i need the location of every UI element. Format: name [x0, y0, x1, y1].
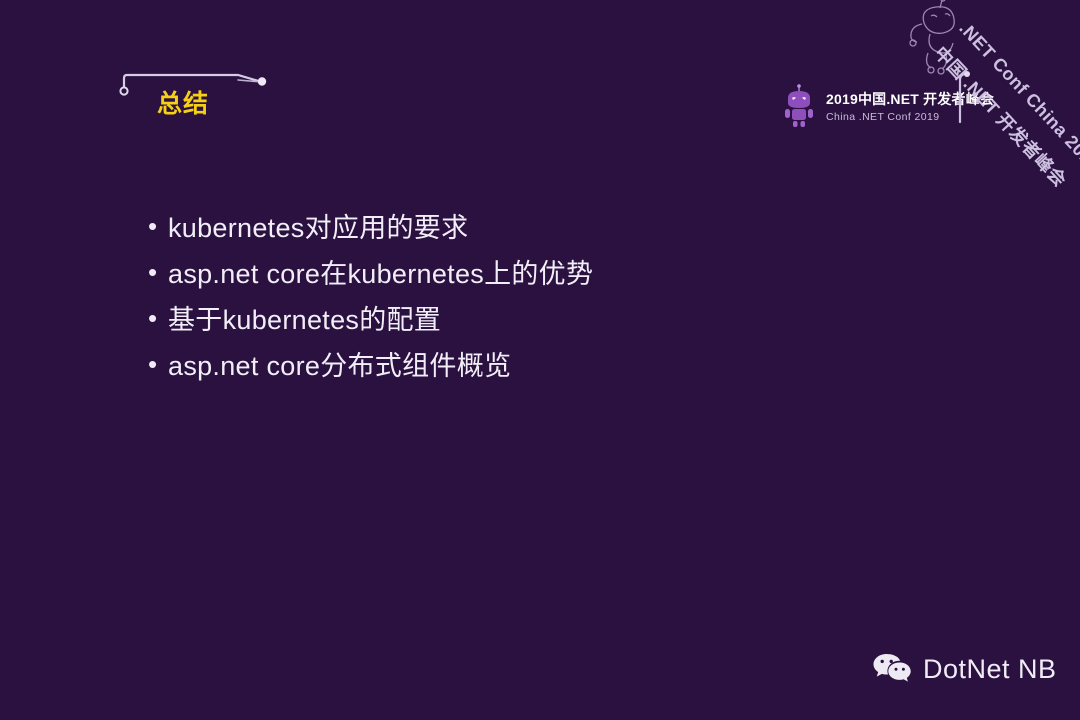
- robot-mascot-icon: [780, 84, 818, 128]
- page-title: 总结: [157, 92, 209, 117]
- wechat-brand-label: DotNet NB: [923, 654, 1057, 685]
- list-item: • asp.net core在kubernetes上的优势: [148, 260, 848, 306]
- list-item-label: kubernetes对应用的要求: [168, 214, 468, 244]
- conference-logo-text: 2019中国.NET 开发者峰会 China .NET Conf 2019: [826, 89, 994, 123]
- wechat-brand: DotNet NB: [872, 652, 1057, 686]
- list-item-label: 基于kubernetes的配置: [168, 306, 441, 336]
- list-item-label: asp.net core在kubernetes上的优势: [168, 260, 593, 290]
- bullet-marker-icon: •: [148, 213, 168, 239]
- bullet-marker-icon: •: [148, 351, 168, 377]
- list-item-label: asp.net core分布式组件概览: [168, 352, 511, 382]
- list-item: • kubernetes对应用的要求: [148, 214, 848, 260]
- bullet-marker-icon: •: [148, 305, 168, 331]
- bullet-marker-icon: •: [148, 259, 168, 285]
- conference-logo: 2019中国.NET 开发者峰会 China .NET Conf 2019: [780, 84, 994, 128]
- list-item: • 基于kubernetes的配置: [148, 306, 848, 352]
- slide-canvas: 总结 • kubernetes对应用的要求 • asp.net core在kub…: [0, 0, 1080, 720]
- list-item: • asp.net core分布式组件概览: [148, 352, 848, 398]
- conference-title-cn: 2019中国.NET 开发者峰会: [826, 89, 994, 109]
- bullet-list: • kubernetes对应用的要求 • asp.net core在kubern…: [148, 214, 848, 398]
- robot-outline-icon: [898, 0, 978, 76]
- conference-title-en: China .NET Conf 2019: [826, 111, 994, 123]
- wechat-icon: [872, 652, 912, 686]
